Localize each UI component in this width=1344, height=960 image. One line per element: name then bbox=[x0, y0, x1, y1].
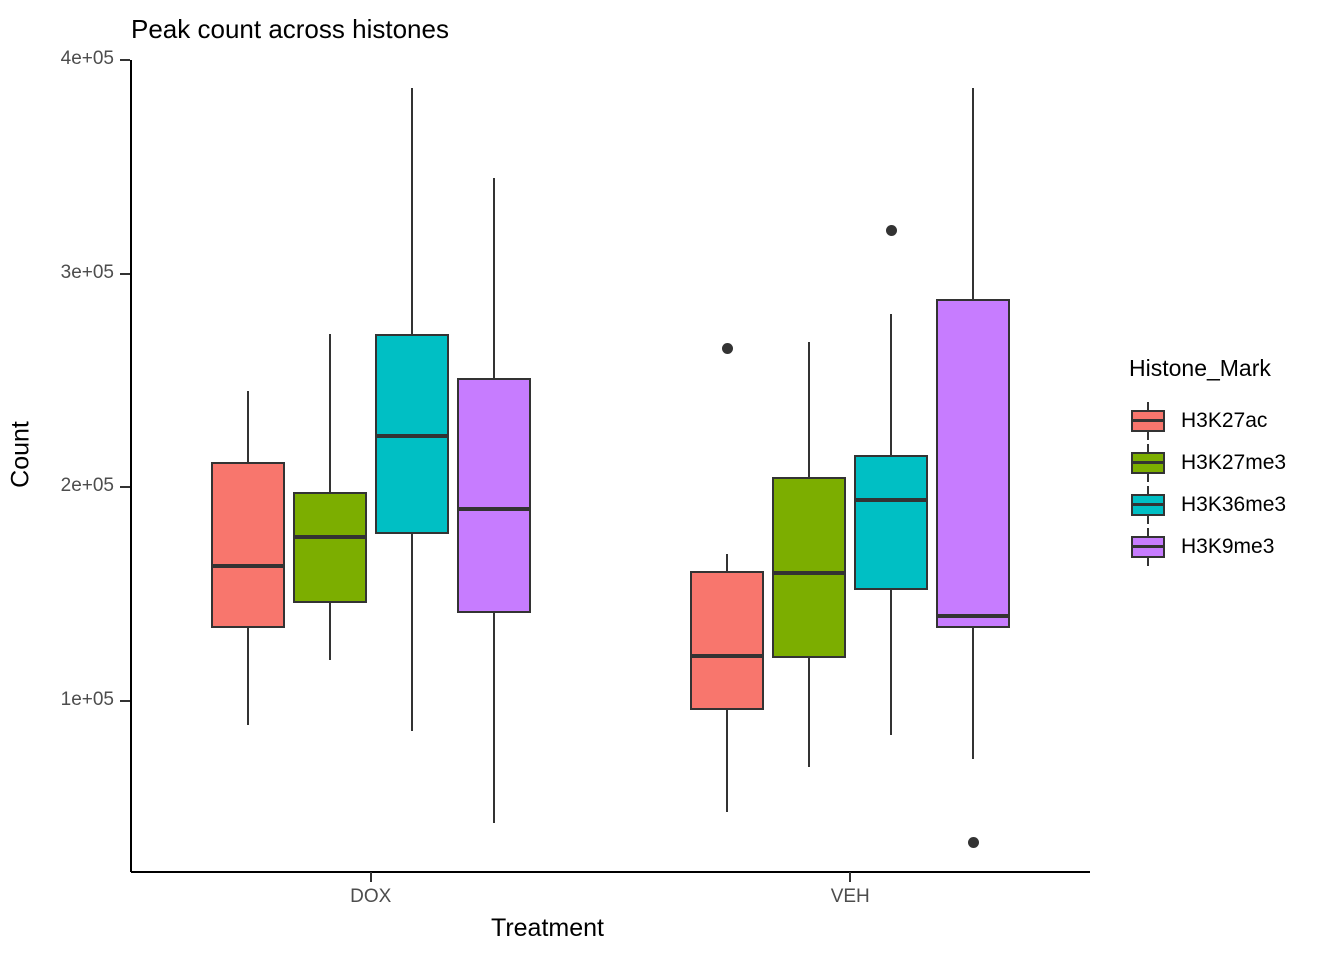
y-tick-label: 4e+05 bbox=[24, 48, 114, 70]
y-tick-label: 2e+05 bbox=[24, 475, 114, 497]
y-tick-mark bbox=[120, 273, 130, 275]
box-rect bbox=[772, 477, 846, 659]
chart-root: Peak count across histones Count Treatme… bbox=[0, 0, 1344, 960]
median-line bbox=[457, 507, 531, 511]
median-line bbox=[293, 535, 367, 539]
whisker-upper bbox=[890, 314, 892, 455]
legend-title: Histone_Mark bbox=[1129, 355, 1344, 382]
legend-key-icon bbox=[1129, 486, 1167, 524]
legend-item-h3k36me3[interactable]: H3K36me3 bbox=[1129, 484, 1344, 526]
x-tick-mark bbox=[370, 872, 372, 882]
legend-key-icon bbox=[1129, 444, 1167, 482]
y-tick-label: 3e+05 bbox=[24, 262, 114, 284]
x-tick-label: VEH bbox=[780, 886, 920, 908]
whisker-upper bbox=[247, 391, 249, 462]
legend-item-h3k9me3[interactable]: H3K9me3 bbox=[1129, 526, 1344, 568]
legend: Histone_Mark H3K27acH3K27me3H3K36me3H3K9… bbox=[1129, 355, 1344, 568]
y-tick-label: 1e+05 bbox=[24, 689, 114, 711]
chart-title: Peak count across histones bbox=[131, 14, 449, 45]
legend-key-icon bbox=[1129, 402, 1167, 440]
legend-items: H3K27acH3K27me3H3K36me3H3K9me3 bbox=[1129, 400, 1344, 568]
legend-item-h3k27ac[interactable]: H3K27ac bbox=[1129, 400, 1344, 442]
box-rect bbox=[211, 462, 285, 629]
legend-key-median bbox=[1131, 503, 1165, 506]
legend-item-label: H3K27ac bbox=[1181, 409, 1267, 433]
x-axis-title: Treatment bbox=[0, 914, 1095, 943]
whisker-lower bbox=[808, 658, 810, 767]
whisker-upper bbox=[411, 88, 413, 334]
box-rect bbox=[936, 299, 1010, 628]
whisker-upper bbox=[329, 334, 331, 492]
legend-item-label: H3K9me3 bbox=[1181, 535, 1274, 559]
whisker-lower bbox=[329, 603, 331, 661]
outlier-point[interactable] bbox=[722, 343, 733, 354]
whisker-lower bbox=[726, 710, 728, 813]
plot-panel bbox=[131, 60, 1090, 872]
whisker-upper bbox=[493, 178, 495, 379]
box-rect bbox=[293, 492, 367, 603]
legend-key-median bbox=[1131, 545, 1165, 548]
whisker-lower bbox=[493, 613, 495, 822]
legend-key-median bbox=[1131, 419, 1165, 422]
legend-item-label: H3K36me3 bbox=[1181, 493, 1286, 517]
whisker-upper bbox=[808, 342, 810, 477]
outlier-point[interactable] bbox=[886, 225, 897, 236]
box-rect bbox=[690, 571, 764, 710]
whisker-lower bbox=[890, 590, 892, 735]
whisker-lower bbox=[247, 628, 249, 724]
median-line bbox=[211, 564, 285, 568]
median-line bbox=[854, 498, 928, 502]
whisker-lower bbox=[411, 534, 413, 731]
legend-key-icon bbox=[1129, 528, 1167, 566]
y-tick-mark bbox=[120, 700, 130, 702]
box-rect bbox=[854, 455, 928, 590]
median-line bbox=[375, 434, 449, 438]
whisker-upper bbox=[972, 88, 974, 300]
whisker-lower bbox=[972, 628, 974, 758]
legend-item-h3k27me3[interactable]: H3K27me3 bbox=[1129, 442, 1344, 484]
x-tick-label: DOX bbox=[301, 886, 441, 908]
y-tick-mark bbox=[120, 486, 130, 488]
whisker-upper bbox=[726, 554, 728, 571]
box-rect bbox=[457, 378, 531, 613]
outlier-point[interactable] bbox=[968, 837, 979, 848]
median-line bbox=[690, 654, 764, 658]
median-line bbox=[772, 571, 846, 575]
x-tick-mark bbox=[849, 872, 851, 882]
legend-item-label: H3K27me3 bbox=[1181, 451, 1286, 475]
y-tick-mark bbox=[120, 59, 130, 61]
legend-key-median bbox=[1131, 461, 1165, 464]
median-line bbox=[936, 614, 1010, 618]
